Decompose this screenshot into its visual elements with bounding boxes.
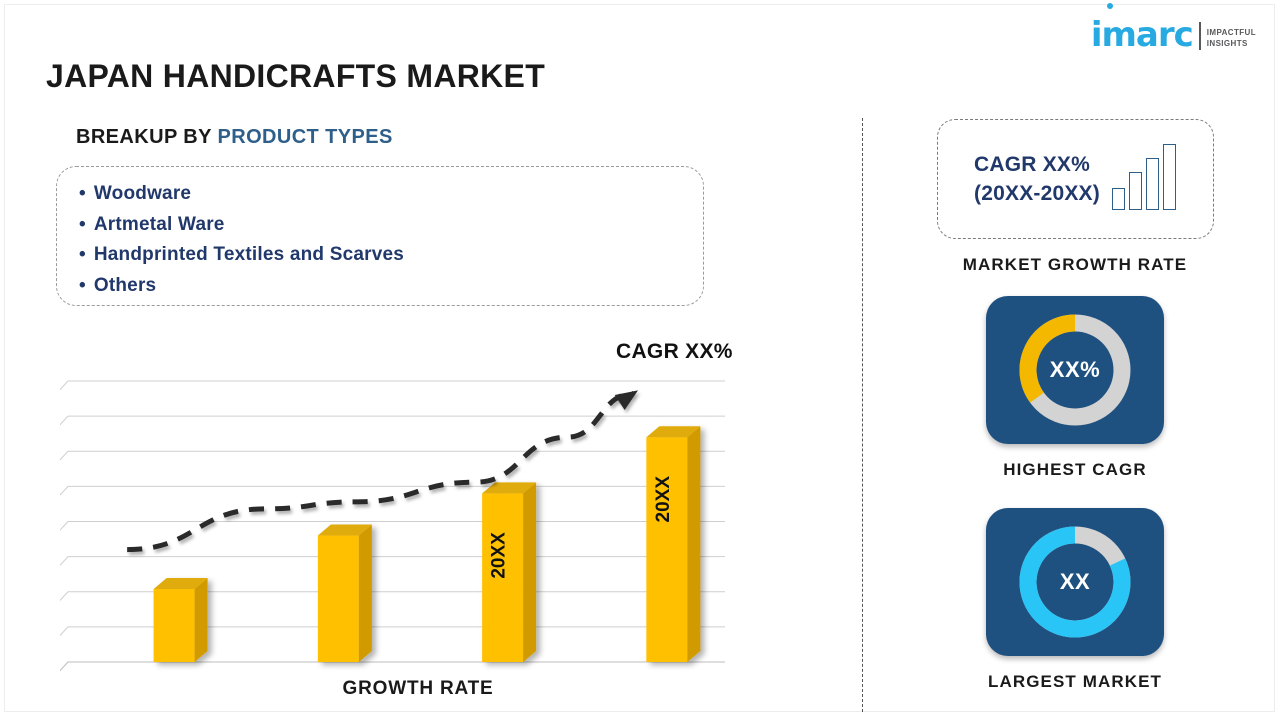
cagr-line-2: (20XX-20XX) xyxy=(974,179,1100,208)
metrics-panel: CAGR XX% (20XX-20XX) MARKET GROWTH RATE … xyxy=(880,110,1270,692)
market-growth-rate-card: CAGR XX% (20XX-20XX) xyxy=(937,119,1214,239)
cagr-line-1: CAGR XX% xyxy=(974,150,1100,179)
x-axis-label: GROWTH RATE xyxy=(288,678,548,700)
list-item: •Woodware xyxy=(79,179,703,210)
bullet-icon: • xyxy=(79,244,86,265)
logo-divider xyxy=(1199,22,1201,50)
svg-text:20XX: 20XX xyxy=(489,532,510,579)
list-item: •Artmetal Ware xyxy=(79,210,703,241)
list-item-label: Woodware xyxy=(94,183,191,204)
logo-tagline: IMPACTFUL INSIGHTS xyxy=(1207,27,1256,49)
chart-canvas: 20XX20XX xyxy=(60,330,760,675)
largest-market-caption: LARGEST MARKET xyxy=(880,672,1270,692)
list-item: •Others xyxy=(79,271,703,302)
cagr-trend-label: CAGR XX% xyxy=(616,340,733,364)
bullet-icon: • xyxy=(79,275,86,296)
list-item: •Handprinted Textiles and Scarves xyxy=(79,240,703,271)
section-subtitle: BREAKUP BY PRODUCT TYPES xyxy=(76,126,393,149)
logo-dot-icon xyxy=(1107,3,1113,9)
product-types-box: •Woodware •Artmetal Ware •Handprinted Te… xyxy=(56,166,704,306)
largest-market-value: XX xyxy=(1014,521,1136,643)
largest-market-donut: XX xyxy=(1014,521,1136,643)
growth-bar-chart: 20XX20XX CAGR XX% GROWTH RATE xyxy=(60,330,760,710)
vertical-divider xyxy=(862,118,863,712)
svg-text:20XX: 20XX xyxy=(653,476,674,523)
subtitle-prefix: BREAKUP BY xyxy=(76,126,212,148)
subtitle-highlight: PRODUCT TYPES xyxy=(217,126,392,148)
market-growth-rate-value: CAGR XX% (20XX-20XX) xyxy=(974,150,1100,208)
list-item-label: Handprinted Textiles and Scarves xyxy=(94,244,404,265)
largest-market-card: XX xyxy=(986,508,1164,656)
highest-cagr-donut: XX% xyxy=(1014,309,1136,431)
list-item-label: Others xyxy=(94,275,156,296)
logo-wordmark: imarc xyxy=(1091,18,1193,52)
imarc-logo: imarc IMPACTFUL INSIGHTS xyxy=(1091,12,1256,52)
highest-cagr-value: XX% xyxy=(1014,309,1136,431)
bar-chart-icon xyxy=(1112,148,1176,210)
highest-cagr-caption: HIGHEST CAGR xyxy=(880,460,1270,480)
logo-tagline-line2: INSIGHTS xyxy=(1207,38,1256,49)
page-title: JAPAN HANDICRAFTS MARKET xyxy=(46,58,545,95)
bullet-icon: • xyxy=(79,214,86,235)
logo-tagline-line1: IMPACTFUL xyxy=(1207,27,1256,38)
market-growth-rate-caption: MARKET GROWTH RATE xyxy=(880,255,1270,275)
list-item-label: Artmetal Ware xyxy=(94,214,225,235)
highest-cagr-card: XX% xyxy=(986,296,1164,444)
bullet-icon: • xyxy=(79,183,86,204)
